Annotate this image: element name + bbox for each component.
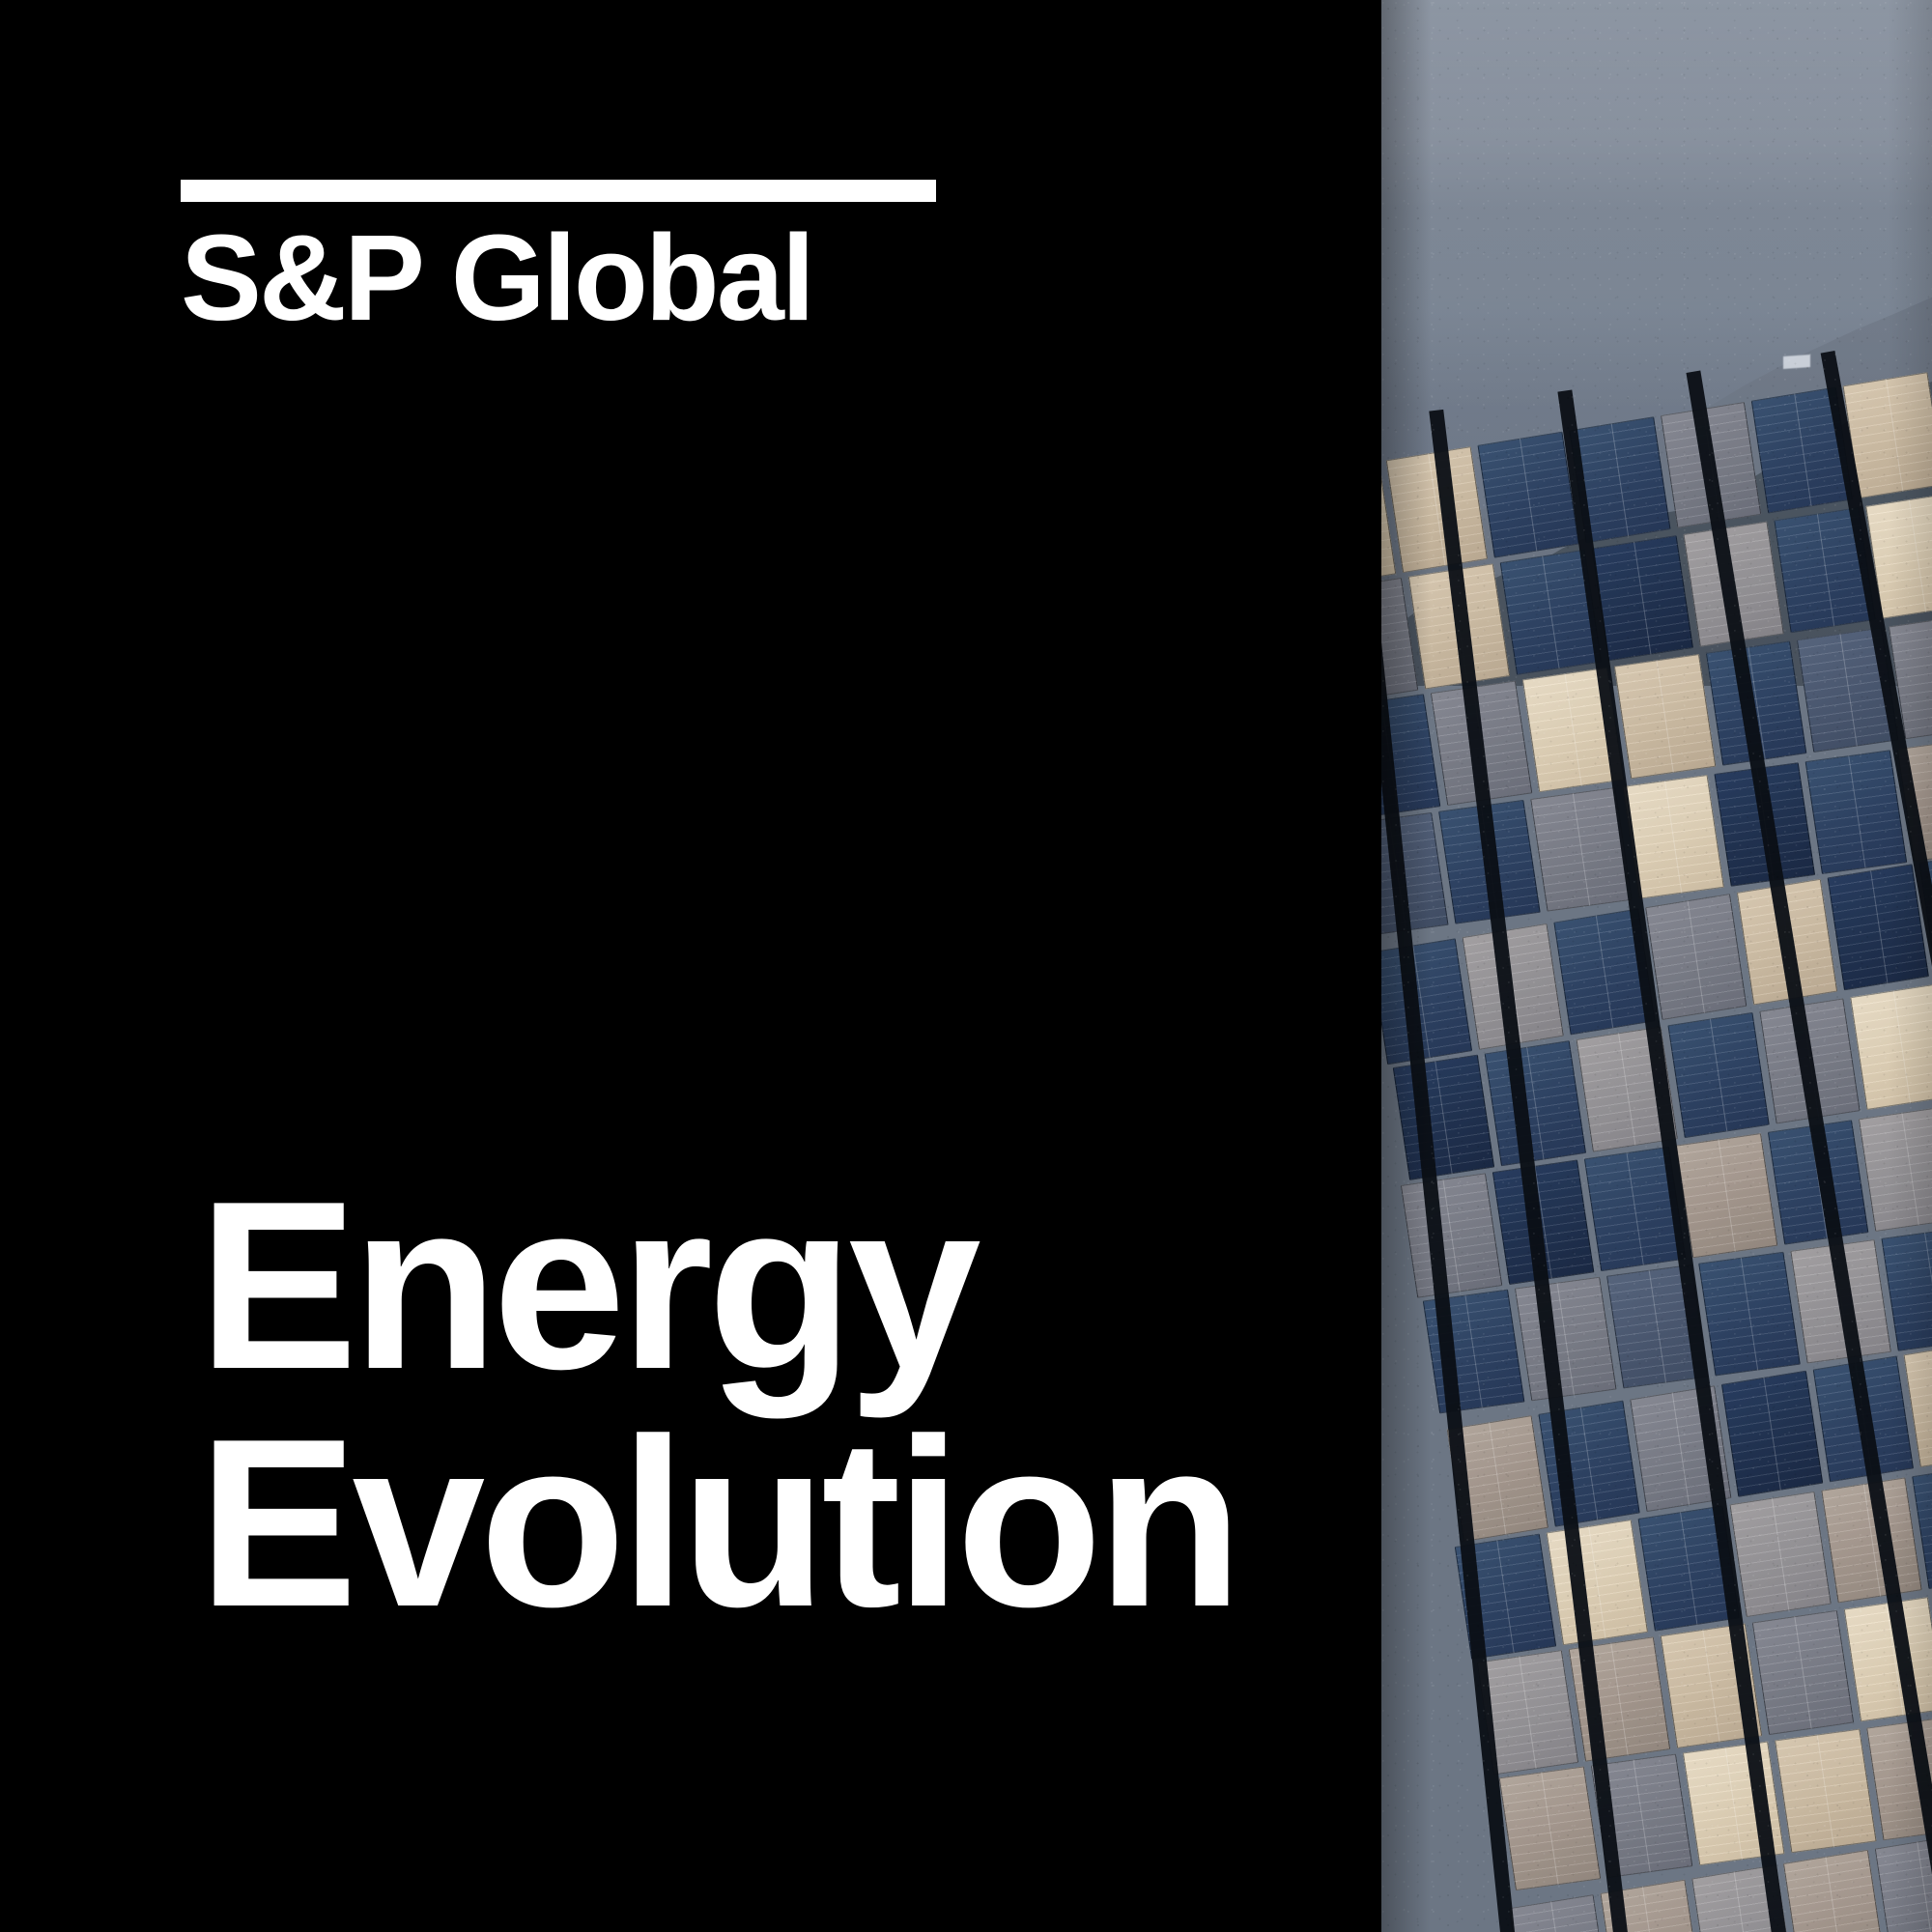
brand-lockup: S&P Global xyxy=(181,180,944,343)
solar-panel xyxy=(1547,1520,1648,1645)
solar-panel xyxy=(1698,1252,1801,1377)
solar-panel xyxy=(1751,1610,1853,1735)
solar-panel xyxy=(1509,1894,1610,1932)
solar-panel xyxy=(1667,1012,1769,1138)
solar-panel xyxy=(1485,1040,1586,1166)
solar-panel xyxy=(1675,1133,1776,1258)
solar-panel xyxy=(1828,864,1929,990)
solar-panel xyxy=(1775,1729,1877,1854)
solar-panel xyxy=(1645,894,1747,1020)
page-title-line-2: Evolution xyxy=(198,1405,1237,1642)
distant-building xyxy=(1783,355,1810,369)
solar-panel xyxy=(1381,938,1472,1065)
solar-panel xyxy=(1783,1850,1885,1932)
solar-panel xyxy=(1882,1227,1932,1351)
title-panel: S&P Global Energy Evolution xyxy=(0,0,1381,1932)
solar-panel xyxy=(1515,1277,1617,1402)
solar-panel xyxy=(1851,984,1932,1110)
solar-panel xyxy=(1477,432,1578,558)
solar-panel xyxy=(1729,1492,1831,1617)
brand-name: S&P Global xyxy=(181,213,944,343)
solar-panel xyxy=(1859,1106,1932,1231)
page-title: Energy Evolution xyxy=(198,1167,1237,1641)
solar-panel xyxy=(1401,1173,1502,1297)
solar-panel xyxy=(1721,1371,1823,1497)
solar-panel xyxy=(1393,1055,1494,1180)
solar-panel xyxy=(1874,1834,1932,1932)
solar-panel xyxy=(1613,654,1715,779)
solar-panel xyxy=(1805,750,1908,874)
cover-photo xyxy=(1381,0,1932,1932)
solar-panel-facade xyxy=(1381,361,1932,1932)
solar-panel xyxy=(1499,1766,1602,1890)
page-title-line-1: Energy xyxy=(198,1167,1237,1405)
cover-art-canvas: S&P Global Energy Evolution xyxy=(0,0,1932,1932)
brand-rule xyxy=(181,180,936,202)
